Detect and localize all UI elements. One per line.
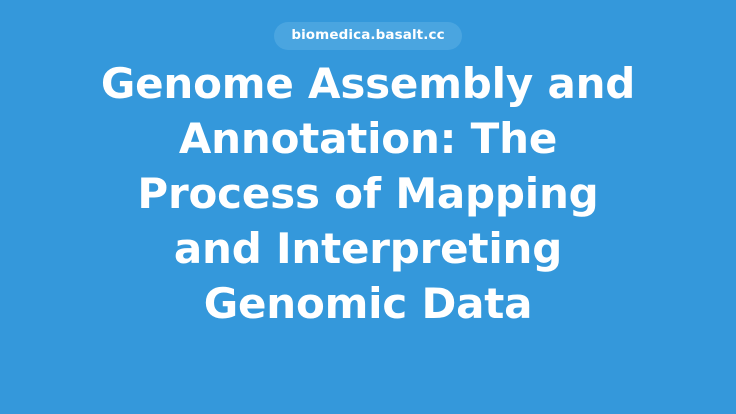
- page-title-line: Genomic Data: [78, 276, 658, 331]
- badge-row: biomedica.basalt.cc: [0, 22, 736, 50]
- page-title: Genome Assembly and Annotation: The Proc…: [78, 56, 658, 331]
- site-domain-label: biomedica.basalt.cc: [291, 29, 444, 43]
- page-title-line: Genome Assembly and: [78, 56, 658, 111]
- headline-container: Genome Assembly and Annotation: The Proc…: [0, 50, 736, 414]
- page-title-line: Annotation: The: [78, 111, 658, 166]
- page-title-line: Process of Mapping: [78, 166, 658, 221]
- page-title-line: and Interpreting: [78, 221, 658, 276]
- title-card: biomedica.basalt.cc Genome Assembly and …: [0, 0, 736, 414]
- site-domain-badge[interactable]: biomedica.basalt.cc: [274, 22, 461, 50]
